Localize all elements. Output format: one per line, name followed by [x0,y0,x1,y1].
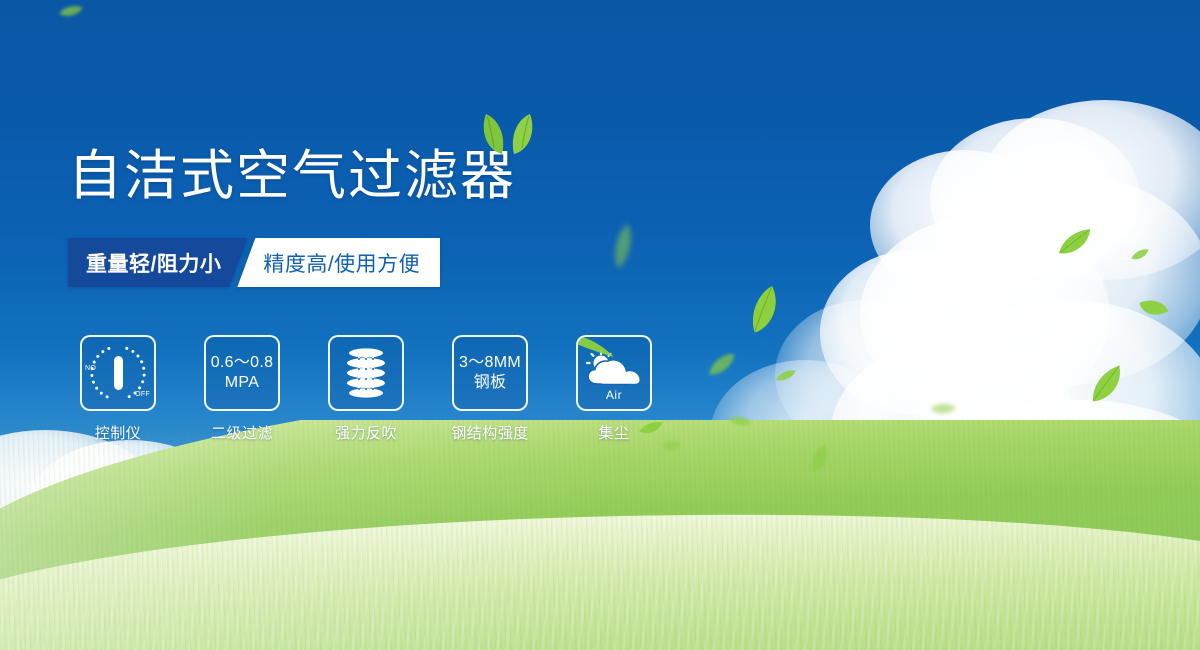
hero-banner: 自洁式空气过滤器 重量轻/阻力小 精度高/使用方便 [0,0,1200,650]
dial-on-label: NO [85,365,96,372]
dial-knob [114,356,123,390]
grass-texture [0,420,1200,650]
feature-list: NO OFF 控制仪 0.6～0.8 MPA 二级过滤 [68,335,664,443]
subtitle-right-text: 精度高/使用方便 [237,238,440,287]
feature-label: 二级过滤 [211,422,273,443]
grass-field [0,420,1200,650]
green-streak-decoration [576,335,618,367]
air-label: Air [578,388,650,402]
feature-label: 钢结构强度 [451,422,529,443]
dial-off-label: OFF [135,391,150,398]
feature-label: 控制仪 [95,422,142,443]
feature-icon-box: 0.6～0.8 MPA [204,335,280,411]
feature-item-back-blow[interactable]: 强力反吹 [316,335,416,443]
steel-value-line2: 钢板 [474,373,507,393]
filter-cartridge-icon [339,344,393,402]
feature-label: 强力反吹 [335,422,397,443]
control-dial-icon: NO OFF [87,345,149,401]
feature-item-secondary-filtration[interactable]: 0.6～0.8 MPA 二级过滤 [192,335,292,443]
subtitle-bar: 重量轻/阻力小 精度高/使用方便 [68,238,440,287]
feature-label: 集尘 [598,422,629,443]
pressure-value-line2: MPA [225,373,259,393]
feature-item-controller[interactable]: NO OFF 控制仪 [68,335,168,443]
steel-value-line1: 3～8MM [459,353,521,373]
sprout-leaves-icon [472,108,542,156]
feature-icon-box: 3～8MM 钢板 [452,335,528,411]
feature-item-steel-strength[interactable]: 3～8MM 钢板 钢结构强度 [440,335,540,443]
feature-item-dust-collection[interactable]: Air 集尘 [564,335,664,443]
title-block: 自洁式空气过滤器 [68,145,516,207]
feature-icon-box [328,335,404,411]
subtitle-left-text: 重量轻/阻力小 [68,238,247,287]
feature-icon-box: NO OFF [80,335,156,411]
feature-icon-box: Air [576,335,652,411]
page-title: 自洁式空气过滤器 [68,145,516,207]
pressure-value-line1: 0.6～0.8 [211,353,274,373]
